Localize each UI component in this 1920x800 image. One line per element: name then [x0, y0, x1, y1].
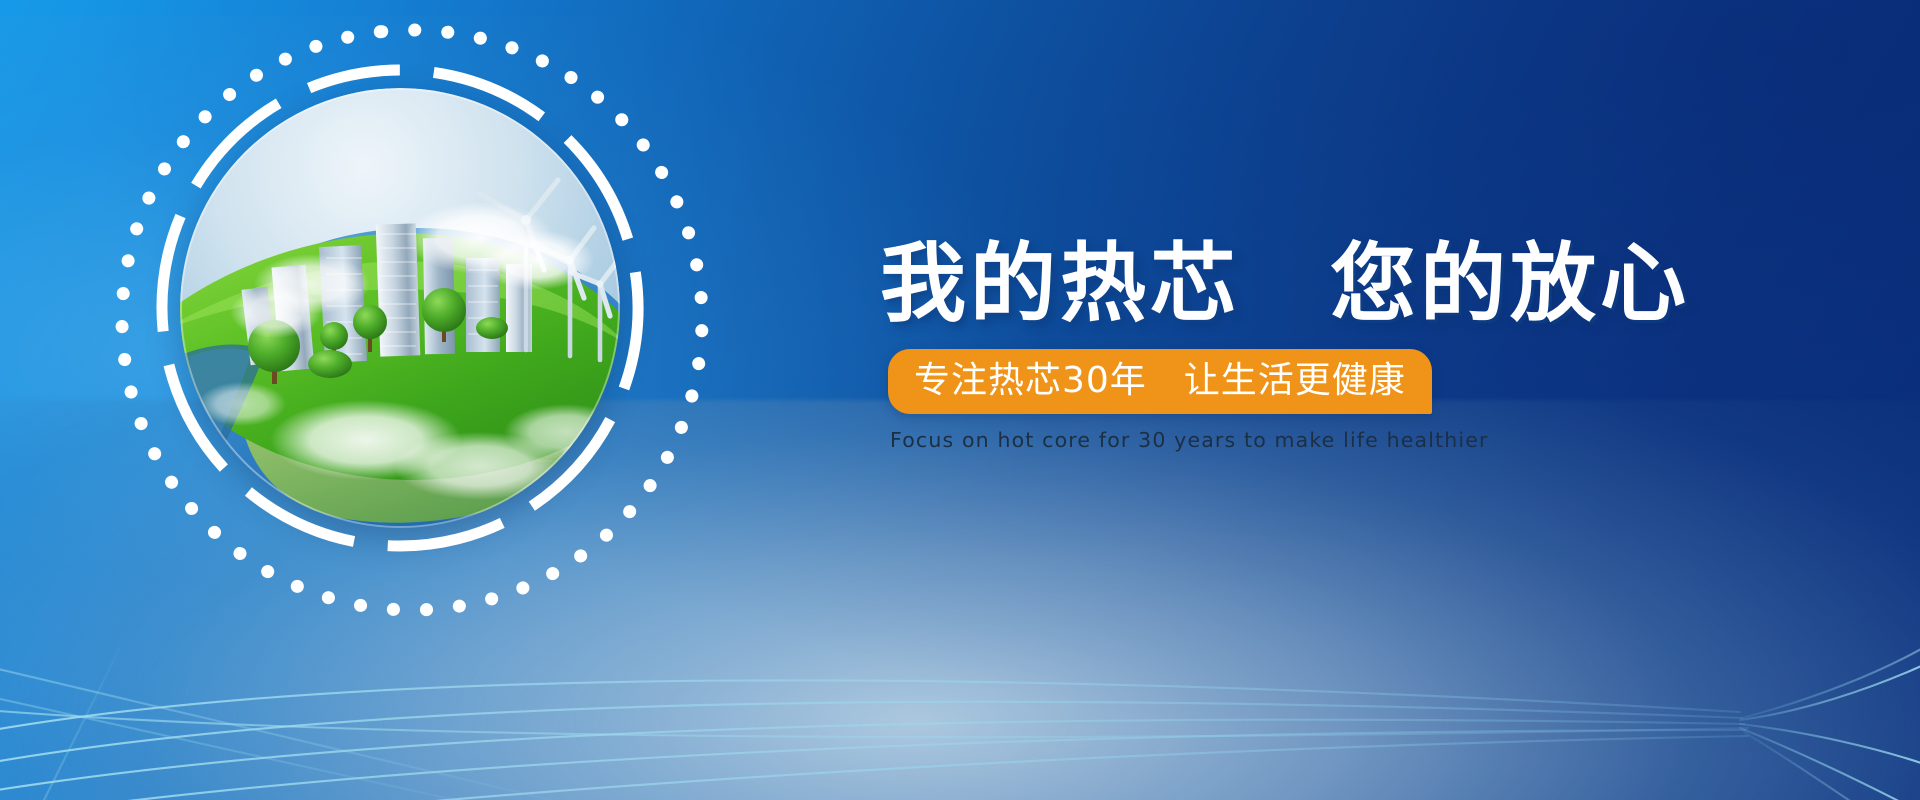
page-title: 我的热芯 您的放心 — [880, 238, 1760, 331]
emblem-rings: .dashring { fill: none; stroke: #ffffff;… — [120, 28, 780, 688]
eco-globe-emblem: .dashring { fill: none; stroke: #ffffff;… — [120, 28, 780, 688]
status-badge: 专注热芯30年 让生活更健康 — [888, 349, 1432, 414]
banner-copy: 我的热芯 您的放心 专注热芯30年 让生活更健康 Focus on hot co… — [880, 238, 1760, 452]
promo-banner: .dashring { fill: none; stroke: #ffffff;… — [0, 0, 1920, 800]
subtitle-text: Focus on hot core for 30 years to make l… — [890, 428, 1760, 452]
dashed-arc-ring — [111, 19, 688, 596]
